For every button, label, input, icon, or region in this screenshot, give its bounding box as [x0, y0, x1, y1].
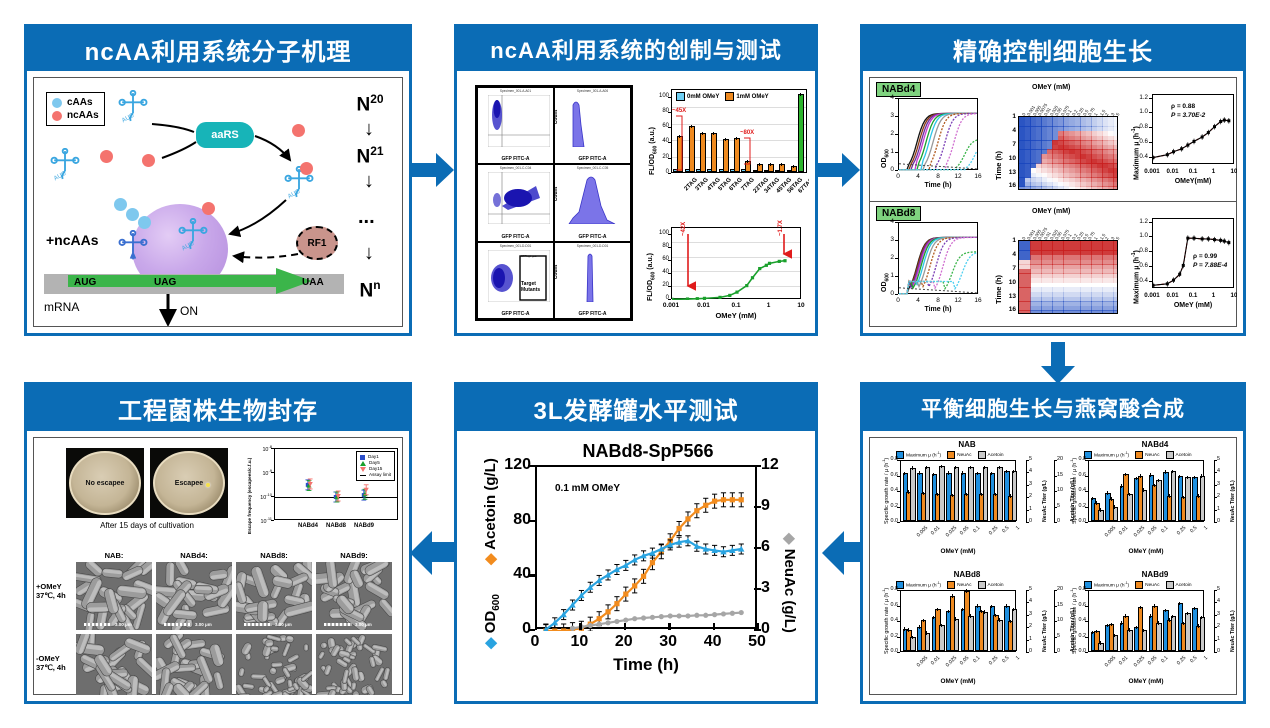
errorbar	[1172, 615, 1173, 618]
legend-label-2: Acetoin	[1176, 453, 1192, 458]
scale-bar-text: 3.00 μm	[275, 694, 292, 695]
bar-NAB-0.1-Acetoin	[968, 467, 974, 521]
xtick-NABd8-0.1: 0.1	[972, 655, 981, 664]
ytick-label: 0.4	[1130, 153, 1148, 160]
errorbar	[1183, 496, 1184, 499]
bar-NAB-0.25-Acetoin	[983, 467, 989, 521]
legend-item-2: Acetoin	[1166, 581, 1192, 589]
panel-growth-control-body: NABd4 OD600 01234 0481216 Time (h) OMeY …	[869, 77, 1237, 327]
xtick-label-1: 1	[1203, 292, 1225, 299]
errorbar	[1129, 493, 1130, 496]
errorbar	[981, 493, 982, 496]
legend-label-2: Acetoin	[988, 583, 1004, 588]
legend-item-2: Acetoin	[978, 451, 1004, 459]
ytick-label: 1	[880, 148, 894, 155]
errorbar	[926, 631, 927, 634]
ytick-mark	[1054, 460, 1057, 461]
legend-label-1: NeuAc	[957, 583, 971, 588]
errorbar	[952, 494, 953, 497]
ytick-label: 0.8	[1130, 247, 1148, 254]
panel-fermentation-body: NABd8-SpP566 ◆ Acetoin (g/L) ◆ OD600 ◆ N…	[463, 437, 809, 695]
sem-row-label-line1: +OMeY	[36, 582, 76, 591]
growth-curve-nabd4: OD600 01234 0481216 Time (h)	[878, 96, 984, 200]
panel-fermentation-header: 3L发酵罐水平测试	[457, 385, 815, 431]
errorbar	[759, 163, 760, 166]
errorbar	[977, 472, 978, 475]
errorbar	[1143, 629, 1144, 632]
ytick-mark	[1054, 522, 1057, 523]
ytick-mid-4: 4	[1217, 598, 1220, 604]
graphical-abstract: ncAA利用系统分子机理 cAAs ncAAs	[0, 0, 1270, 728]
mid-axis-line	[1026, 590, 1027, 652]
ytick-mark	[1026, 652, 1029, 653]
subchart-title-NABd8: NABd8	[874, 570, 1060, 579]
bar-NAB-0.025-Acetoin	[939, 466, 945, 521]
ytick-mark	[1054, 476, 1057, 477]
corr-plot: ρ = 0.88 P = 3.70E-2	[1152, 94, 1234, 164]
ytick-mid-2: 2	[1217, 493, 1220, 499]
xtick-NABd4-0.005: 0.005	[1104, 525, 1117, 538]
subchart-NABd8: NABd8Maximum μ (h-1)NeuAcAcetoin0.00.20.…	[874, 570, 1060, 695]
heatmap-cell	[1113, 310, 1118, 314]
errorbar	[977, 604, 978, 607]
corr-xlabel: OMeY (mM)	[1152, 302, 1234, 309]
ytick-mark	[897, 637, 900, 638]
ytick-mark	[668, 112, 671, 113]
legend-label-caas: cAAs	[67, 96, 93, 109]
flow-x-axis-label: GFP FITC-A	[478, 311, 553, 317]
ytick-label: 60	[651, 123, 669, 129]
xtick-30: 30	[652, 633, 684, 651]
subchart-xlabel-NAB: OMeY (mM)	[900, 548, 1016, 555]
balance-subchart-grid: NABMaximum μ (h-1)NeuAcAcetoin0.00.20.40…	[870, 438, 1236, 694]
ytick-label: 0	[649, 295, 669, 301]
xtick-NAB-0.01: 0.01	[930, 525, 941, 536]
errorbar	[904, 472, 905, 475]
ytick-label: 60	[649, 256, 669, 262]
errorbar	[702, 132, 703, 135]
ytick-mark	[1214, 472, 1217, 473]
errorbar	[941, 624, 942, 627]
arrow-p2-to-p3	[818, 152, 860, 188]
errorbar	[1129, 628, 1130, 631]
flow-specimen-title: Specimen_001-A-A06	[555, 89, 630, 93]
growth-curve-nabd8: OD600 01234 0481216 Time (h)	[878, 220, 984, 324]
orf-arrow	[68, 268, 314, 300]
errorbar	[1187, 476, 1188, 479]
ytick-mark	[668, 97, 671, 98]
bar-NABd9-0.01-Acetoin	[1113, 635, 1119, 651]
ytick-label: 1	[1000, 113, 1016, 120]
errorbar	[941, 465, 942, 468]
ytick-label: 16	[1000, 306, 1016, 313]
xtick-NABd4-0.01: 0.01	[1118, 525, 1129, 536]
fermentation-xlabel: Time (h)	[535, 655, 757, 675]
sem-row-label-line2: 37℃, 4h	[36, 591, 76, 600]
sem-col-label-1: NABd4:	[156, 551, 232, 560]
ytick-label: 2	[880, 254, 894, 261]
ytick-mark	[1085, 491, 1088, 492]
heatmap-cell	[1113, 186, 1118, 190]
errorbar	[919, 625, 920, 628]
subchart-plot-NABd8	[900, 590, 1016, 652]
xtick-label: 8	[930, 297, 946, 304]
errorbar	[691, 125, 692, 128]
legend-swatch-1	[947, 451, 955, 459]
ytick-mark	[528, 574, 535, 576]
ytick-label: 0.6	[1130, 138, 1148, 145]
caa-color-swatch	[52, 98, 62, 108]
ytick-label: 40	[649, 269, 669, 275]
bar-NABd9-0.25-Acetoin	[1171, 616, 1177, 651]
ytick-label: 10-9	[248, 468, 272, 477]
legend-item-0: Maximum μ (h-1)	[1084, 581, 1129, 589]
legend-item-2: Acetoin	[978, 581, 1004, 589]
legend-label-2: Acetoin	[988, 453, 1004, 458]
trna-icon-free-1: AUC	[116, 90, 150, 124]
legend-item-1: NeuAc	[1135, 581, 1159, 589]
flow-y-axis-label: SSC-A	[477, 264, 480, 280]
ytick-mid-4: 4	[1029, 598, 1032, 604]
ytick-label: 1	[1000, 237, 1016, 244]
xtick-label-0.1: 0.1	[724, 302, 748, 309]
errorbar	[1114, 634, 1115, 637]
ytick-left-120: 120	[493, 456, 531, 474]
bar-NABd8-0.05-Acetoin	[954, 619, 960, 651]
ytick-mark	[895, 152, 898, 153]
errorbar	[995, 493, 996, 496]
codon-expansion-nn: Nn	[340, 278, 400, 302]
xtick-10: 10	[563, 633, 595, 651]
xtick-NABd8-0.005: 0.005	[916, 655, 929, 668]
subchart-xlabel-NABd9: OMeY (mM)	[1088, 678, 1204, 685]
dose-annotation-17x: ~1.7X	[778, 220, 784, 236]
scale-bar-text: 3.00 μm	[275, 622, 292, 627]
legend-swatch-2	[978, 451, 986, 459]
errorbar	[1179, 475, 1180, 478]
target-mutants-label: Target Mutants	[521, 281, 540, 293]
subchart-legend-NAB: Maximum μ (h-1)NeuAcAcetoin	[896, 451, 1004, 459]
errorbar	[1169, 618, 1170, 621]
errorbar	[955, 466, 956, 469]
dose-plot: ~42X ~1.7X	[671, 227, 801, 299]
errorbar	[1201, 616, 1202, 619]
legend-label-ncaas: ncAAs	[67, 109, 99, 122]
ytick-mid-5: 5	[1217, 586, 1220, 592]
heatmap-grid	[1018, 116, 1118, 190]
ytick-mark	[754, 506, 761, 508]
sem-image-1-0: 3.00 μm	[76, 634, 152, 695]
ytick-label: 10-11	[248, 516, 272, 525]
trna-icon-free-2: AUC	[48, 148, 82, 182]
bar-NAB-0.05-Acetoin	[954, 467, 960, 521]
ytick-mid-1: 1	[1217, 506, 1220, 512]
errorbar	[1006, 470, 1007, 473]
errorbar	[1140, 474, 1141, 477]
sem-image-0-1: 3.00 μm	[156, 562, 232, 630]
subchart-ylabel-mid-NABd8: NeuAc Titer (g/L)	[1042, 610, 1048, 652]
mid-axis-line	[1026, 460, 1027, 522]
subchart-ylabel-left-NABd8: Specific growth rate / μ (h-1)	[882, 588, 890, 654]
errorbar	[1107, 624, 1108, 627]
ytick-mark	[897, 476, 900, 477]
panel-growth-control: 精确控制细胞生长 NABd4 OD600 01234 0481216 Time …	[860, 24, 1246, 336]
ytick-label: 1.2	[1130, 218, 1148, 225]
panel-balance-header: 平衡细胞生长与燕窝酸合成	[863, 385, 1243, 431]
xtick-label-0.1: 0.1	[1182, 168, 1204, 175]
flow-specimen-title: Specimen_001-A-A01	[478, 89, 553, 93]
legend-aa-types: cAAs ncAAs	[46, 92, 105, 126]
xtick-NABd4-0.05: 0.05	[1147, 525, 1158, 536]
ytick-mark	[1026, 497, 1029, 498]
bar-NABd8-0.5-Acetoin	[997, 620, 1003, 651]
errorbar	[984, 610, 985, 613]
errorbar	[948, 471, 949, 474]
xtick-label-0.001: 0.001	[1141, 292, 1163, 299]
xtick-40: 40	[697, 633, 729, 651]
dose-xlabel: OMeY (mM)	[671, 311, 801, 320]
legend-label-0: Maximum μ (h-1)	[906, 581, 941, 589]
xtick-label: 8	[930, 173, 946, 180]
flow-y-axis-label: SSC-A	[477, 109, 480, 125]
errorbar	[1107, 491, 1108, 494]
ytick-mark	[528, 629, 535, 631]
bar-chart-ylabel: FL/OD600 (a.u.)	[649, 127, 658, 175]
panel-balance-growth-neuac: 平衡细胞生长与燕窝酸合成 NABMaximum μ (h-1)NeuAcAcet…	[860, 382, 1246, 704]
errorbar	[991, 605, 992, 608]
petri-dish-no-escapee: No escapee	[66, 448, 144, 518]
xtick-NABd4-0.5: 0.5	[1189, 525, 1198, 534]
ytick-mark	[1026, 510, 1029, 511]
errorbar	[948, 610, 949, 613]
svg-text:AUC: AUC	[121, 112, 136, 124]
ytick-mark	[895, 116, 898, 117]
xtick-NAB-0.05: 0.05	[959, 525, 970, 536]
expansion-ellipsis: ...	[358, 206, 375, 229]
panel-growth-control-header: 精确控制细胞生长	[863, 27, 1243, 71]
xtick-NAB-0.025: 0.025	[945, 525, 958, 538]
ytick-label: 100	[651, 93, 669, 99]
ytick-mark	[1085, 590, 1088, 591]
ytick-mark	[668, 260, 671, 261]
bar-NAB-0.005-Acetoin	[910, 468, 916, 521]
errorbar	[1125, 473, 1126, 476]
bar-NABd8-0.025-Acetoin	[939, 625, 945, 651]
legend-swatch-2	[1166, 451, 1174, 459]
ytick-mark	[895, 276, 898, 277]
sem-row-label-1: -OMeY37℃, 4h	[36, 654, 76, 672]
subchart-xlabel-NABd4: OMeY (mM)	[1088, 548, 1204, 555]
errorbar	[912, 466, 913, 469]
xtick-label-10: 10	[1223, 168, 1237, 175]
dish-label-no-escapee: No escapee	[86, 480, 125, 487]
ytick-label: 4	[1000, 251, 1016, 258]
panel-biocontainment-body: No escapee Escapee After 15 days of cult…	[33, 437, 403, 695]
codon-aug: AUG	[74, 277, 96, 288]
ytick-mark	[1026, 615, 1029, 616]
errorbar	[1114, 505, 1115, 508]
ytick-label: 7	[1000, 141, 1016, 148]
sem-row-label-0: +OMeY37℃, 4h	[36, 582, 76, 600]
flow-scatter-3-gated[interactable]: Specimen_001-D-D01 GFPhigh gate Target M…	[477, 242, 554, 319]
flow-specimen-title: Specimen_001-C-C05	[555, 166, 630, 170]
rf1-label: RF1	[308, 238, 327, 249]
escape-plot: Day1 Day5 Day15 Assay limit	[274, 448, 398, 520]
errorbar	[713, 132, 714, 135]
bar-1mm-7TAG	[734, 138, 740, 172]
ytick-mid-3: 3	[1029, 611, 1032, 617]
subchart-legend-NABd9: Maximum μ (h-1)NeuAcAcetoin	[1084, 581, 1192, 589]
dish-caption: After 15 days of cultivation	[66, 521, 228, 530]
ytick-mark	[754, 547, 761, 549]
ytick-mark	[897, 491, 900, 492]
growth-xlabel: Time (h)	[898, 306, 978, 313]
errorbar	[933, 473, 934, 476]
corr-xlabel: OMeY(mM)	[1152, 178, 1234, 185]
panel-balance-body: NABMaximum μ (h-1)NeuAcAcetoin0.00.20.40…	[869, 437, 1237, 695]
bar-1mm-4TAG	[700, 133, 706, 172]
xtick-label-0.01: 0.01	[1162, 292, 1184, 299]
errorbar	[926, 466, 927, 469]
bar-NABd9-1-Acetoin	[1200, 617, 1206, 651]
xtick-mark	[535, 623, 537, 630]
ytick-label: 0.6	[1130, 262, 1148, 269]
xtick-NAB-1: 1	[1015, 525, 1021, 531]
ytick-mark	[668, 286, 671, 287]
ytick-mark	[1054, 507, 1057, 508]
bar-NABd4-0.025-Acetoin	[1127, 494, 1133, 521]
ytick-mark	[1085, 652, 1088, 653]
ytick-label: 10-8	[248, 444, 272, 453]
ytick-mark	[1214, 602, 1217, 603]
ytick-mark	[1149, 222, 1152, 223]
ytick-mark	[1214, 485, 1217, 486]
ytick-label: 0	[880, 166, 894, 173]
subchart-legend-NABd8: Maximum μ (h-1)NeuAcAcetoin	[896, 581, 1004, 589]
ytick-right-3: 3	[761, 579, 785, 597]
errorbar	[1143, 488, 1144, 491]
on-label: ON	[180, 304, 198, 318]
ytick-mark	[1085, 621, 1088, 622]
ytick-mid-2: 2	[1029, 623, 1032, 629]
sem-image-0-0: 3.00 μm	[76, 562, 152, 630]
errorbar	[991, 472, 992, 475]
errorbar	[1165, 609, 1166, 612]
flow-x-axis-label: GFP FITC-A	[478, 234, 553, 240]
scale-bar: 3.00 μm	[244, 622, 292, 627]
ytick-mark	[1085, 637, 1088, 638]
xtick-mark	[579, 623, 581, 630]
ytick-mark	[1149, 281, 1152, 282]
sem-image-1-1: 3.00 μm	[156, 634, 232, 695]
ytick-mark	[1149, 251, 1152, 252]
ytick-mark	[1214, 522, 1217, 523]
errorbar	[937, 608, 938, 611]
ytick-label: 80	[651, 108, 669, 114]
errorbar	[1010, 494, 1011, 497]
ytick-mark	[1149, 112, 1152, 113]
subchart-ylabel-mid-NABd4: NeuAc Titer (g/L)	[1230, 480, 1236, 522]
ytick-mark	[1149, 98, 1152, 99]
trna-icon-p-site	[116, 230, 150, 264]
ytick-label: 10	[1000, 155, 1016, 162]
nascent-aa-2	[126, 208, 139, 221]
sem-col-label-3: NABd9:	[316, 551, 392, 560]
ytick-mark	[1085, 460, 1088, 461]
mid-axis-line	[1214, 590, 1215, 652]
errorbar	[937, 493, 938, 496]
errorbar	[725, 138, 726, 141]
ytick-label: 1.0	[1130, 108, 1148, 115]
errorbar	[908, 490, 909, 493]
errorbar	[995, 614, 996, 617]
flow-x-axis-label: GFP FITC-A	[555, 156, 630, 162]
subchart-title-NABd9: NABd9	[1062, 570, 1237, 579]
subchart-ylabel-left-NABd9: Specific growth rate / μ (h-1)	[1070, 588, 1078, 654]
ytick-right-6: 6	[761, 538, 785, 556]
svg-text:AUC: AUC	[53, 170, 68, 182]
flow-count-label: Count	[554, 187, 559, 201]
arrow-p5-to-p4	[410, 530, 454, 576]
errorbar	[1006, 604, 1007, 607]
errorbar	[962, 608, 963, 611]
bar-NABd9-0.025-Acetoin	[1127, 630, 1133, 651]
scale-bar: 3.00 μm	[164, 694, 212, 695]
ytick-label: 40	[651, 138, 669, 144]
panel-biocontainment: 工程菌株生物封存 No escapee Escapee After 15 day…	[24, 382, 412, 704]
errorbar	[1198, 494, 1199, 497]
scale-bar-text: 3.00 μm	[355, 622, 372, 627]
ytick-label: 4	[880, 218, 894, 225]
ytick-mark	[897, 652, 900, 653]
errorbar	[1092, 631, 1093, 634]
trna-icon-a-site: AUC	[176, 218, 210, 252]
subchart-ylabel-mid-NAB: NeuAc Titer (g/L)	[1042, 480, 1048, 522]
bar-NABd9-0.5-Acetoin	[1185, 613, 1191, 651]
ytick-label: 0.8	[1130, 123, 1148, 130]
ytick-right-9: 9	[761, 497, 785, 515]
legend-label-1: NeuAc	[1145, 583, 1159, 588]
errorbar	[904, 627, 905, 630]
ytick-mark	[897, 621, 900, 622]
fold-annotation-45x: ~45X	[672, 108, 686, 114]
ytick-mid-0: 0	[1217, 518, 1220, 524]
ytick-mark	[897, 606, 900, 607]
flow-scatter-1: Specimen_001-A-A01 SSC-A GFP FITC-A	[477, 87, 554, 164]
corr-pval-nabd8: P = 7.88E-4	[1193, 262, 1227, 269]
correlation-nabd8: Maximum μ (h-1) ρ = 0.99 P = 7.88E-4 0.4…	[1128, 216, 1237, 324]
ytick-mid-0: 0	[1029, 648, 1032, 654]
ytick-mark	[1214, 460, 1217, 461]
bar-1mm-56TAG	[779, 164, 785, 172]
scale-bar: 3.00 μm	[324, 694, 372, 695]
xtick-label: 4	[910, 173, 926, 180]
legend-swatch-1	[947, 581, 955, 589]
ytick-mark	[895, 294, 898, 295]
errorbar	[1169, 494, 1170, 497]
ytick-mark	[1214, 497, 1217, 498]
dose-response-chart: FL/OD600 (a.u.)	[643, 225, 809, 323]
panel-system-construction: ncAA利用系统的创制与测试 Specimen_001-A-A01	[454, 24, 818, 336]
xtick-label: 16	[970, 173, 986, 180]
legend-item-0: Maximum μ (h-1)	[896, 451, 941, 459]
errorbar	[970, 614, 971, 617]
ytick-mark	[897, 590, 900, 591]
ytick-right-0: 0	[1057, 648, 1060, 654]
ytick-mark	[1085, 522, 1088, 523]
xtick-NABd4-0.1: 0.1	[1160, 525, 1169, 534]
heatmap-xlabel: OMeY (mM)	[1032, 208, 1070, 215]
